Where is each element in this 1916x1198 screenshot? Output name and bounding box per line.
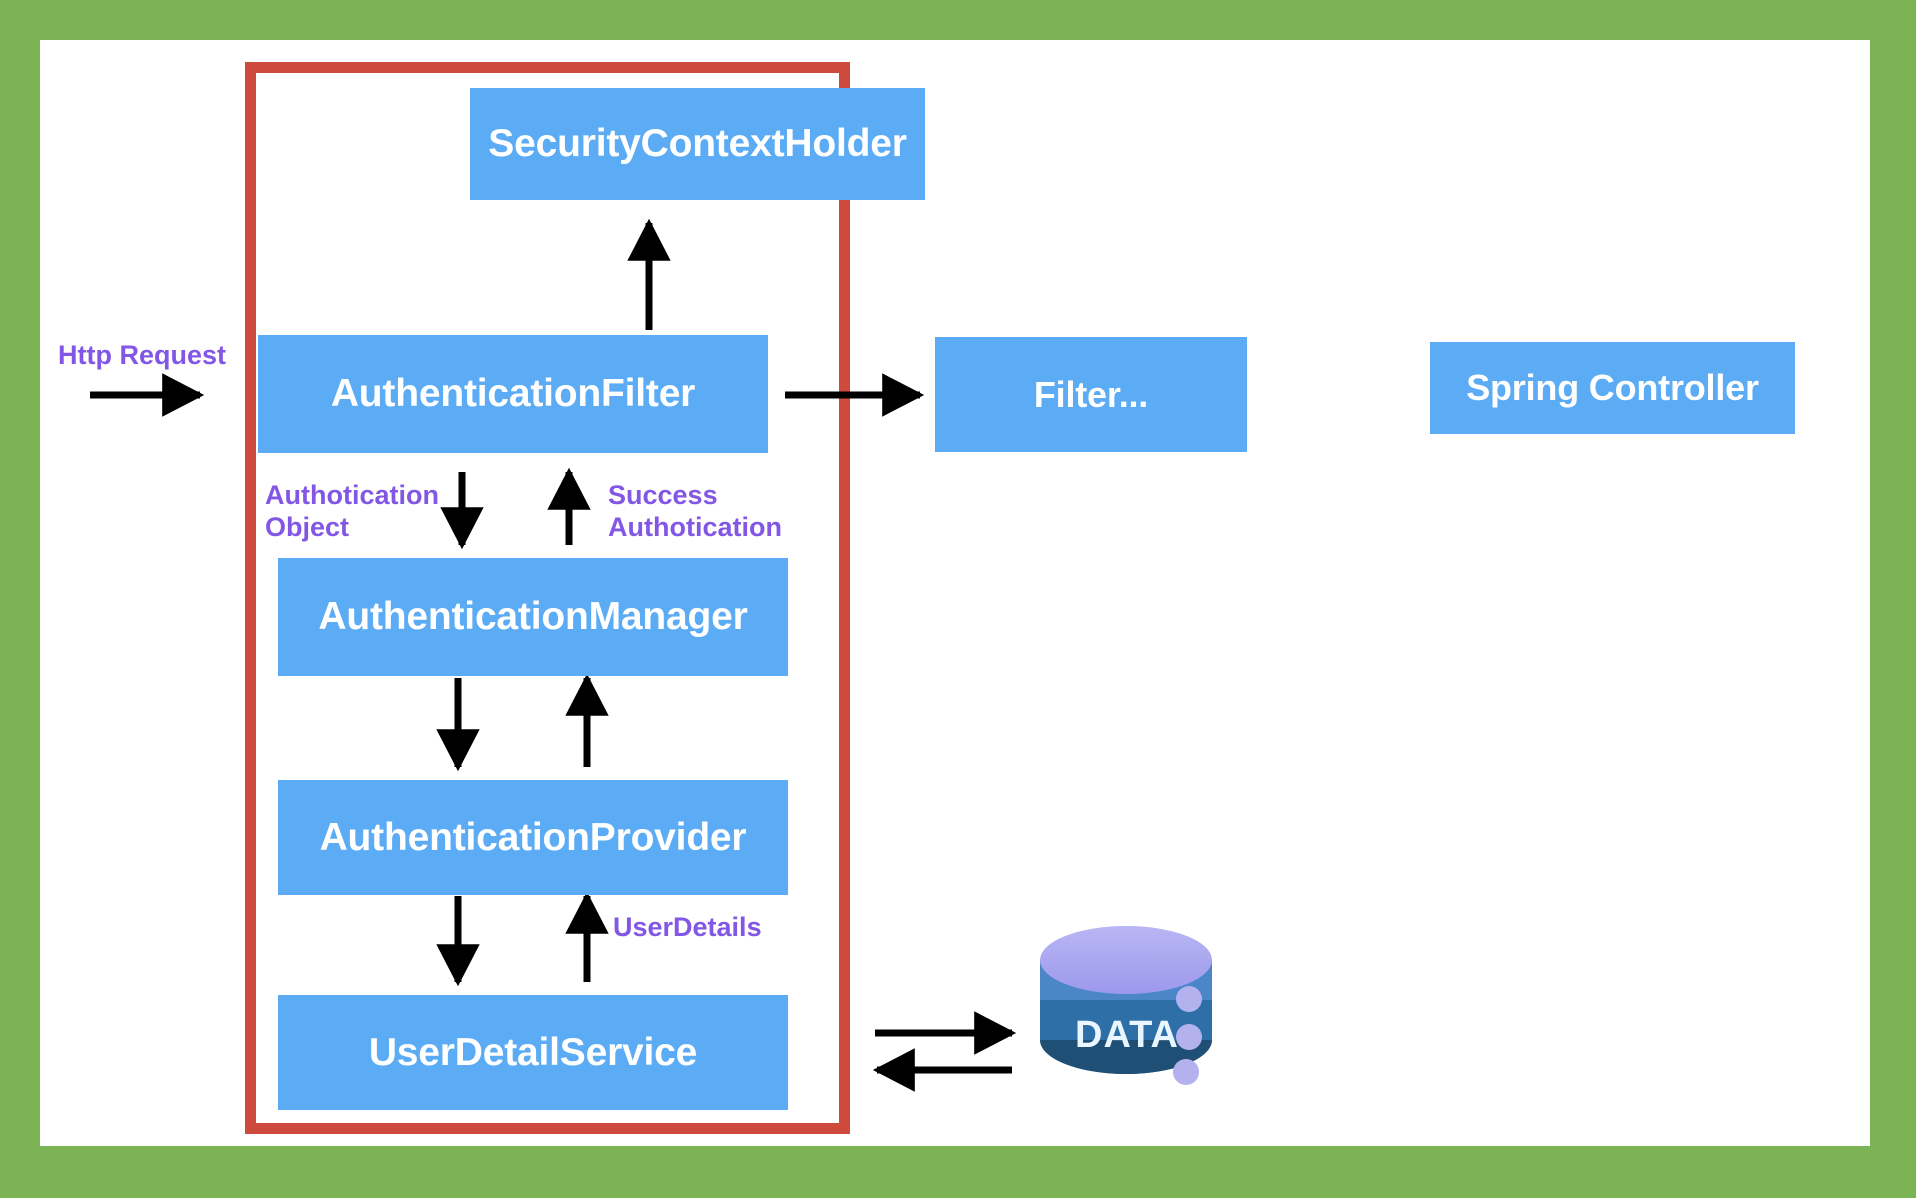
label-success-authotication: Success Authotication — [608, 480, 782, 544]
datastore-layer — [40, 40, 1870, 1146]
label-http-request: Http Request — [58, 340, 226, 372]
db-indicator-dot — [1176, 1024, 1202, 1050]
datastore-label: DATA — [1075, 1014, 1179, 1057]
database-cylinder-icon[interactable] — [1040, 926, 1212, 1085]
db-indicator-dot — [1173, 1059, 1199, 1085]
label-user-details: UserDetails — [613, 912, 762, 944]
label-authotication-object: Authotication Object — [265, 480, 439, 544]
diagram-root: SecurityContextHolder AuthenticationFilt… — [0, 0, 1916, 1198]
db-indicator-dot — [1176, 986, 1202, 1012]
diagram-canvas: SecurityContextHolder AuthenticationFilt… — [40, 40, 1870, 1146]
